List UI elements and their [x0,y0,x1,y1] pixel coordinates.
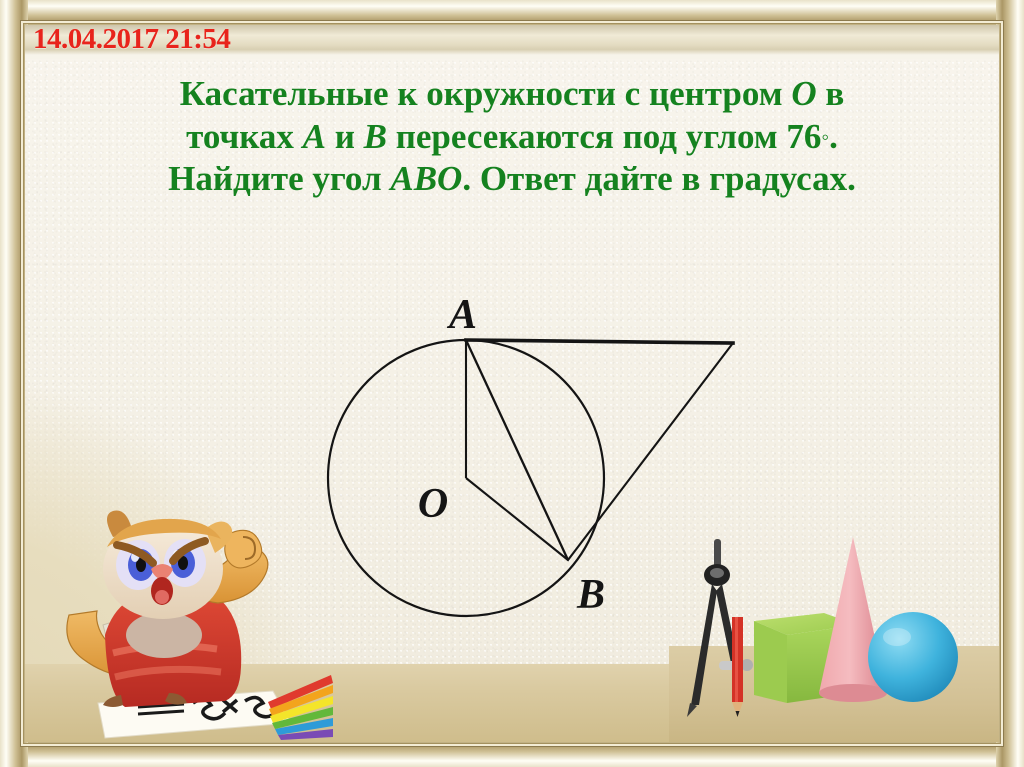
label-point-a: A [446,292,477,338]
tangent-line-b [568,343,733,560]
colored-pencils [268,675,333,740]
frame-edge-right [996,0,1024,767]
label-point-b: B [576,572,605,618]
slide-root: 14.04.2017 21:54 Касательные к окружност… [0,0,1024,767]
tangent-line-a [466,340,733,343]
chord-ab [466,340,568,560]
owl-character [63,507,333,742]
geometry-props [681,535,981,720]
frame-edge-left [0,0,28,767]
radius-ob [466,478,568,560]
label-point-o: O [418,481,448,527]
slide-canvas: 14.04.2017 21:54 Касательные к окружност… [25,25,999,742]
blue-sphere-icon [868,612,958,702]
frame-edge-top [0,0,1024,28]
owl-claw-left [103,695,123,707]
compass-icon [687,539,753,717]
frame-edge-bottom [0,739,1024,767]
red-pencil-icon [732,617,743,717]
